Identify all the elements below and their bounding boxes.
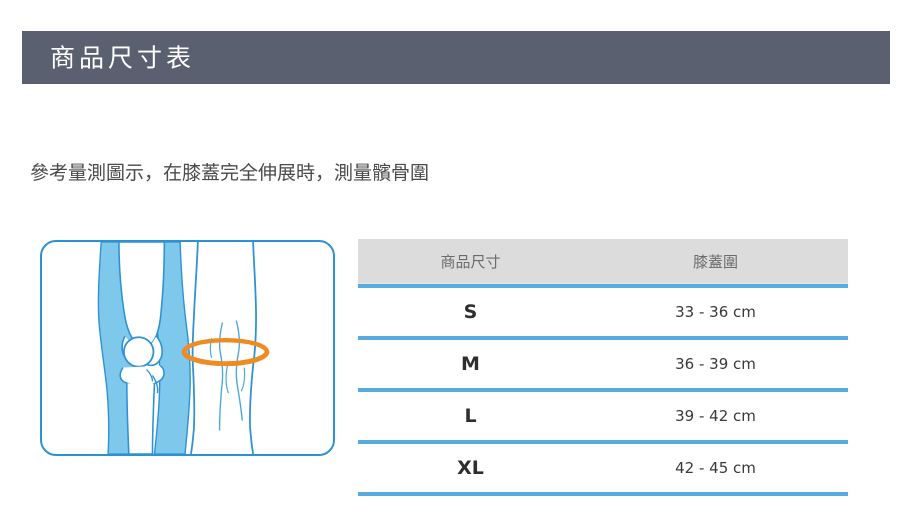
- knee-crease-lateral: [236, 321, 242, 421]
- header-banner: 商品尺寸表: [22, 31, 890, 84]
- row-divider: [358, 492, 848, 496]
- patella-bone: [124, 337, 154, 366]
- knee-diagram-svg: [42, 242, 333, 454]
- right-leg-left-contour: [191, 242, 198, 454]
- tibia-plateau: [120, 366, 164, 386]
- page-title: 商品尺寸表: [50, 45, 195, 70]
- cell-size: S: [358, 301, 583, 323]
- cell-girth: 33 - 36 cm: [583, 303, 848, 321]
- table-row: S 33 - 36 cm: [358, 288, 848, 336]
- knee-crease-extra-3: [241, 368, 244, 392]
- cell-size: M: [358, 353, 583, 375]
- cell-girth: 39 - 42 cm: [583, 407, 848, 425]
- measurement-instruction-text: 參考量測圖示，在膝蓋完全伸展時，測量髕骨圍: [30, 158, 429, 185]
- right-leg-outline: [184, 242, 267, 454]
- knee-measurement-diagram: [40, 240, 335, 456]
- table-row: M 36 - 39 cm: [358, 340, 848, 388]
- table-header-row: 商品尺寸 膝蓋圍: [358, 239, 848, 284]
- cell-girth: 36 - 39 cm: [583, 355, 848, 373]
- size-table: 商品尺寸 膝蓋圍 S 33 - 36 cm M 36 - 39 cm L 39 …: [358, 239, 848, 496]
- cell-size: XL: [358, 457, 583, 479]
- left-leg-anatomy: [98, 242, 190, 454]
- cell-girth: 42 - 45 cm: [583, 459, 848, 477]
- table-row: XL 42 - 45 cm: [358, 444, 848, 492]
- table-row: L 39 - 42 cm: [358, 392, 848, 440]
- column-header-size: 商品尺寸: [358, 251, 583, 272]
- knee-crease-extra-2: [226, 366, 228, 393]
- column-header-girth: 膝蓋圍: [583, 251, 848, 272]
- tibia-bone: [127, 383, 155, 454]
- right-leg-right-contour: [250, 242, 256, 454]
- cell-size: L: [358, 405, 583, 427]
